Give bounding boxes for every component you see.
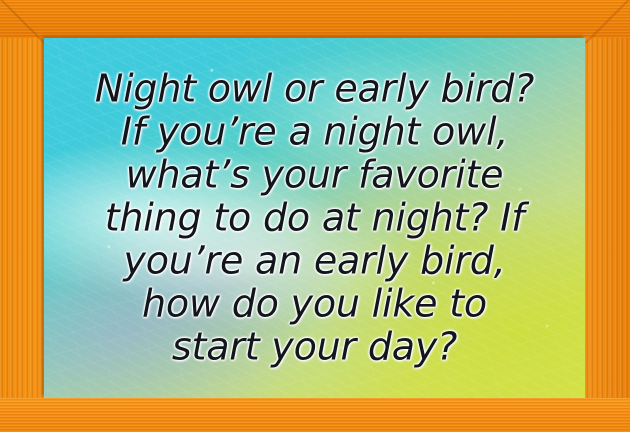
quote-line: what’s your favorite (54, 154, 575, 197)
frame-opening: Night owl or early bird? If you’re a nig… (44, 38, 585, 398)
quote-line: how do you like to (54, 283, 575, 326)
quote-line: thing to do at night? If (54, 197, 575, 240)
quote-line: you’re an early bird, (54, 240, 575, 283)
frame-rail-top (0, 0, 630, 38)
quote-line: start your day? (54, 326, 575, 369)
quote-text-block: Night owl or early bird? If you’re a nig… (44, 68, 585, 369)
quote-line: Night owl or early bird? (54, 68, 575, 111)
frame-rail-bottom (0, 398, 630, 432)
quote-line: If you’re a night owl, (54, 111, 575, 154)
framed-image: Night owl or early bird? If you’re a nig… (0, 0, 630, 432)
